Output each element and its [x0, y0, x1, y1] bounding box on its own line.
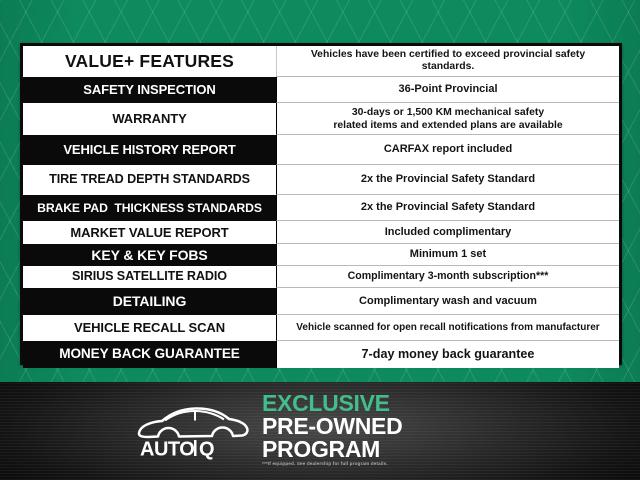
row-label: TIRE TREAD DEPTH STANDARDS [49, 173, 250, 186]
table-row: VEHICLE HISTORY REPORT CARFAX report inc… [23, 135, 619, 165]
row-label-cell: WARRANTY [23, 103, 276, 135]
row-label-cell: VEHICLE RECALL SCAN [23, 315, 276, 341]
row-value-cell: 2x the Provincial Safety Standard [276, 195, 619, 221]
table-row: BRAKE PAD THICKNESS STANDARDS 2x the Pro… [23, 195, 619, 221]
row-label-cell: SAFETY INSPECTION [23, 77, 276, 103]
autoiq-logo: AUTO Q [133, 396, 251, 460]
row-value: Minimum 1 set [402, 248, 494, 260]
row-label-cell: KEY & KEY FOBS [23, 244, 276, 266]
row-label-cell: BRAKE PAD THICKNESS STANDARDS [23, 195, 276, 221]
row-value: Complimentary 3-month subscription*** [340, 271, 557, 283]
row-label: MONEY BACK GUARANTEE [59, 347, 240, 361]
table-row: MONEY BACK GUARANTEE 7-day money back gu… [23, 341, 619, 368]
row-label: SAFETY INSPECTION [83, 83, 215, 97]
table-row: DETAILING Complimentary wash and vacuum [23, 288, 619, 315]
table-subtitle-cell: Vehicles have been certified to exceed p… [276, 46, 619, 77]
table-subtitle: Vehicles have been certified to exceed p… [277, 49, 619, 72]
value-features-table: VALUE+ FEATURES Vehicles have been certi… [20, 43, 622, 365]
row-label: BRAKE PAD THICKNESS STANDARDS [37, 202, 262, 215]
row-label-cell: TIRE TREAD DEPTH STANDARDS [23, 165, 276, 195]
table-header-row: VALUE+ FEATURES Vehicles have been certi… [23, 46, 619, 77]
brand-headline: EXCLUSIVE PRE-OWNED PROGRAM [262, 392, 592, 460]
row-label: KEY & KEY FOBS [91, 248, 207, 263]
row-value-cell: CARFAX report included [276, 135, 619, 165]
row-value: Included complimentary [377, 226, 520, 238]
row-value-cell: 7-day money back guarantee [276, 341, 619, 368]
row-label-cell: DETAILING [23, 288, 276, 315]
row-label-cell: VEHICLE HISTORY REPORT [23, 135, 276, 165]
row-label-cell: MARKET VALUE REPORT [23, 221, 276, 244]
row-value-cell: 30-days or 1,500 KM mechanical safety re… [276, 103, 619, 135]
row-value: 30-days or 1,500 KM mechanical safety re… [325, 106, 570, 132]
row-label: VEHICLE HISTORY REPORT [63, 143, 235, 157]
table-body: VALUE+ FEATURES Vehicles have been certi… [23, 46, 619, 362]
table-row: WARRANTY 30-days or 1,500 KM mechanical … [23, 103, 619, 135]
row-label: SIRIUS SATELLITE RADIO [72, 270, 227, 283]
row-label: WARRANTY [112, 112, 186, 126]
table-row: KEY & KEY FOBS Minimum 1 set [23, 244, 619, 266]
brand-line-pre-owned: PRE-OWNED [262, 415, 592, 438]
row-value: 2x the Provincial Safety Standard [353, 173, 543, 185]
row-label: MARKET VALUE REPORT [70, 226, 228, 240]
row-value: 2x the Provincial Safety Standard [353, 201, 543, 213]
row-value: Complimentary wash and vacuum [351, 295, 545, 307]
row-value-cell: 2x the Provincial Safety Standard [276, 165, 619, 195]
brand-line-exclusive: EXCLUSIVE [262, 392, 592, 415]
row-value: 36-Point Provincial [390, 83, 505, 95]
row-value-cell: Complimentary 3-month subscription*** [276, 266, 619, 288]
row-value: CARFAX report included [376, 143, 520, 155]
table-row: SAFETY INSPECTION 36-Point Provincial [23, 77, 619, 103]
page-title: VALUE+ FEATURES [65, 52, 234, 70]
footer-fineprint: ***If equipped. See dealership for full … [262, 461, 388, 466]
row-label: DETAILING [113, 294, 187, 309]
row-value: 7-day money back guarantee [354, 347, 543, 361]
table-row: MARKET VALUE REPORT Included complimenta… [23, 221, 619, 244]
promo-sheet: VALUE+ FEATURES Vehicles have been certi… [0, 0, 640, 480]
table-row: SIRIUS SATELLITE RADIO Complimentary 3-m… [23, 266, 619, 288]
row-label: VEHICLE RECALL SCAN [74, 321, 225, 335]
row-label-cell: SIRIUS SATELLITE RADIO [23, 266, 276, 288]
row-value-cell: 36-Point Provincial [276, 77, 619, 103]
table-row: TIRE TREAD DEPTH STANDARDS 2x the Provin… [23, 165, 619, 195]
brand-line-program: PROGRAM [262, 438, 592, 461]
table-title-cell: VALUE+ FEATURES [23, 46, 276, 77]
svg-text:AUTO: AUTO [140, 439, 194, 461]
row-value-cell: Complimentary wash and vacuum [276, 288, 619, 315]
table-row: VEHICLE RECALL SCAN Vehicle scanned for … [23, 315, 619, 341]
row-value-cell: Included complimentary [276, 221, 619, 244]
svg-text:Q: Q [199, 439, 215, 461]
car-silhouette-icon: AUTO Q [133, 396, 251, 460]
row-value-cell: Minimum 1 set [276, 244, 619, 266]
row-value-cell: Vehicle scanned for open recall notifica… [276, 315, 619, 341]
row-value: Vehicle scanned for open recall notifica… [288, 322, 607, 333]
row-label-cell: MONEY BACK GUARANTEE [23, 341, 276, 368]
